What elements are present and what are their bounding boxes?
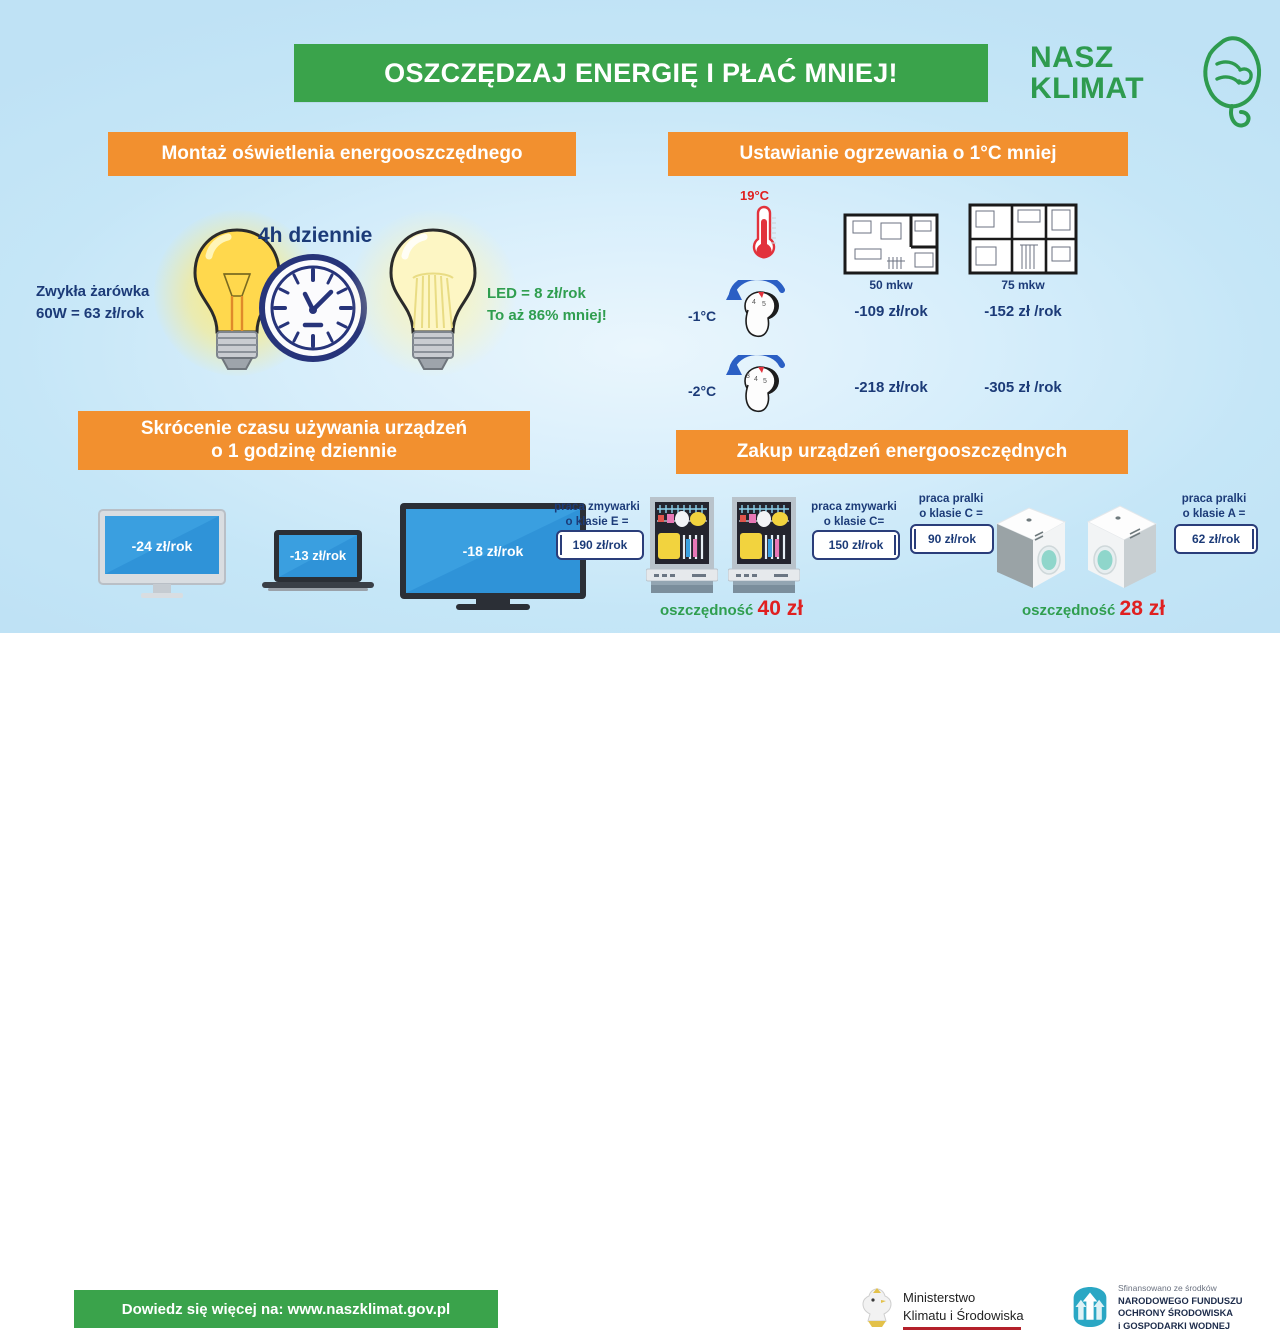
caption-dishwasher-c-line2: o klasie C= xyxy=(805,515,903,530)
dishwasher-icon-2 xyxy=(728,497,800,595)
infographic-canvas: OSZCZĘDZAJ ENERGIĘ I PŁAĆ MNIEJ! NASZ KL… xyxy=(0,0,1280,633)
footer-cta-label: Dowiedz się więcej na: www.naszklimat.go… xyxy=(122,1301,450,1318)
value-dishwasher-e-text: 190 zł/rok xyxy=(573,538,628,552)
ministry-logo-text: Ministerstwo Klimatu i Środowiska xyxy=(903,1289,1024,1324)
leaf-icon xyxy=(1180,32,1272,128)
fund-line2: OCHRONY ŚRODOWISKA xyxy=(1118,1307,1242,1319)
desktop-monitor-icon: -24 zł/rok xyxy=(97,508,227,598)
label-led-line1: LED = 8 zł/rok xyxy=(487,283,677,305)
value-washer-c-text: 90 zł/rok xyxy=(928,532,976,546)
brand-logo-text: NASZ KLIMAT xyxy=(1030,42,1144,104)
caption-washer-a-line1: praca pralki xyxy=(1168,492,1260,507)
thermometer-icon xyxy=(745,205,779,267)
ministry-rule xyxy=(903,1327,1021,1330)
banner-devices-line1: Skrócenie czasu używania urządzeń xyxy=(141,418,467,440)
svg-text:5: 5 xyxy=(762,301,766,308)
brand-logo: NASZ KLIMAT xyxy=(1030,38,1260,118)
floorplan-75-icon xyxy=(968,203,1078,275)
fund-line3: i GOSPODARKI WODNEJ xyxy=(1118,1320,1242,1332)
fund-top-line: Sfinansowano ze środków xyxy=(1118,1283,1217,1293)
washing-machine-icon-1 xyxy=(985,502,1073,594)
title-banner: OSZCZĘDZAJ ENERGIĘ I PŁAĆ MNIEJ! xyxy=(294,44,988,102)
banner-appliances-label: Zakup urządzeń energooszczędnych xyxy=(737,441,1067,463)
saving-dishwasher-value: 40 zł xyxy=(758,597,804,620)
led-bulb-icon xyxy=(358,216,508,376)
dishwasher-icon-1 xyxy=(646,497,718,595)
value-dishwasher-e: 190 zł/rok xyxy=(556,530,644,560)
banner-devices: Skrócenie czasu używania urządzeń o 1 go… xyxy=(78,411,530,470)
value-dishwasher-c-text: 150 zł/rok xyxy=(829,538,884,552)
nfosigw-icon xyxy=(1070,1285,1110,1329)
banner-lighting-label: Montaż oświetlenia energooszczędnego xyxy=(161,143,522,165)
label-delta-2c: -2°C xyxy=(688,383,716,399)
value-washer-a-text: 62 zł/rok xyxy=(1192,532,1240,546)
polish-eagle-icon xyxy=(855,1283,899,1333)
caption-dishwasher-c-line1: praca zmywarki xyxy=(805,500,903,515)
label-hours-per-day: 4h dziennie xyxy=(258,224,372,248)
saving-dishwasher: oszczędność 40 zł xyxy=(660,597,803,621)
page-title: OSZCZĘDZAJ ENERGIĘ I PŁAĆ MNIEJ! xyxy=(384,58,898,89)
label-thermometer-value: 19°C xyxy=(740,188,769,203)
caption-washer-a: praca pralki o klasie A = xyxy=(1168,492,1260,522)
fund-logo: Sfinansowano ze środków NARODOWEGO FUNDU… xyxy=(1070,1281,1260,1337)
fund-line1: NARODOWEGO FUNDUSZU xyxy=(1118,1295,1242,1307)
svg-text:3: 3 xyxy=(746,373,750,380)
value-laptop: -13 zł/rok xyxy=(258,548,378,563)
ministry-line1: Ministerstwo xyxy=(903,1289,1024,1307)
caption-dishwasher-e-line1: praca zmywarki xyxy=(548,500,646,515)
footer: Dowiedz się więcej na: www.naszklimat.go… xyxy=(0,633,1280,720)
value-50-minus2: -218 zł/rok xyxy=(833,379,949,396)
banner-appliances: Zakup urządzeń energooszczędnych xyxy=(676,430,1128,474)
banner-heating: Ustawianie ogrzewania o 1°C mniej xyxy=(668,132,1128,176)
caption-washer-c-line1: praca pralki xyxy=(905,492,997,507)
caption-dishwasher-c: praca zmywarki o klasie C= xyxy=(805,500,903,530)
laptop-icon: -13 zł/rok xyxy=(258,528,378,594)
infographic-page: OSZCZĘDZAJ ENERGIĘ I PŁAĆ MNIEJ! NASZ KL… xyxy=(0,0,1280,720)
floorplan-50-icon xyxy=(843,213,939,275)
ministry-logo: Ministerstwo Klimatu i Środowiska xyxy=(855,1283,1035,1335)
caption-washer-c: praca pralki o klasie C = xyxy=(905,492,997,522)
value-75-minus1: -152 zł /rok xyxy=(960,303,1086,320)
value-washer-a: 62 zł/rok xyxy=(1174,524,1258,554)
label-area-50: 50 mkw xyxy=(843,278,939,292)
banner-lighting: Montaż oświetlenia energooszczędnego xyxy=(108,132,576,176)
brand-logo-line2: KLIMAT xyxy=(1030,73,1144,104)
saving-washer: oszczędność 28 zł xyxy=(1022,597,1165,621)
ministry-line2: Klimatu i Środowiska xyxy=(903,1307,1024,1325)
banner-devices-line2: o 1 godzinę dziennie xyxy=(141,441,467,463)
caption-washer-c-line2: o klasie C = xyxy=(905,507,997,522)
value-dishwasher-c: 150 zł/rok xyxy=(812,530,900,560)
svg-text:4: 4 xyxy=(752,299,756,306)
thermostat-knob-icon-2: 3 4 5 xyxy=(718,355,796,417)
saving-washer-label: oszczędność xyxy=(1022,602,1115,619)
svg-text:4: 4 xyxy=(754,376,758,383)
thermostat-knob-icon-1: 4 5 xyxy=(718,280,796,342)
caption-washer-a-line2: o klasie A = xyxy=(1168,507,1260,522)
value-monitor: -24 zł/rok xyxy=(97,538,227,554)
svg-text:5: 5 xyxy=(763,378,767,385)
caption-dishwasher-e: praca zmywarki o klasie E = xyxy=(548,500,646,530)
label-led-line2: To aż 86% mniej! xyxy=(487,305,677,327)
value-washer-c: 90 zł/rok xyxy=(910,524,994,554)
banner-heating-label: Ustawianie ogrzewania o 1°C mniej xyxy=(740,143,1057,165)
footer-cta-banner[interactable]: Dowiedz się więcej na: www.naszklimat.go… xyxy=(74,1290,498,1328)
label-led-savings: LED = 8 zł/rok To aż 86% mniej! xyxy=(487,283,677,327)
washing-machine-icon-2 xyxy=(1080,502,1168,594)
label-delta-1c: -1°C xyxy=(688,308,716,324)
label-area-75: 75 mkw xyxy=(968,278,1078,292)
value-75-minus2: -305 zł /rok xyxy=(960,379,1086,396)
value-50-minus1: -109 zł/rok xyxy=(833,303,949,320)
saving-dishwasher-label: oszczędność xyxy=(660,602,753,619)
caption-dishwasher-e-line2: o klasie E = xyxy=(548,515,646,530)
brand-logo-line1: NASZ xyxy=(1030,42,1144,73)
fund-name: NARODOWEGO FUNDUSZU OCHRONY ŚRODOWISKA i… xyxy=(1118,1295,1242,1332)
saving-washer-value: 28 zł xyxy=(1120,597,1166,620)
